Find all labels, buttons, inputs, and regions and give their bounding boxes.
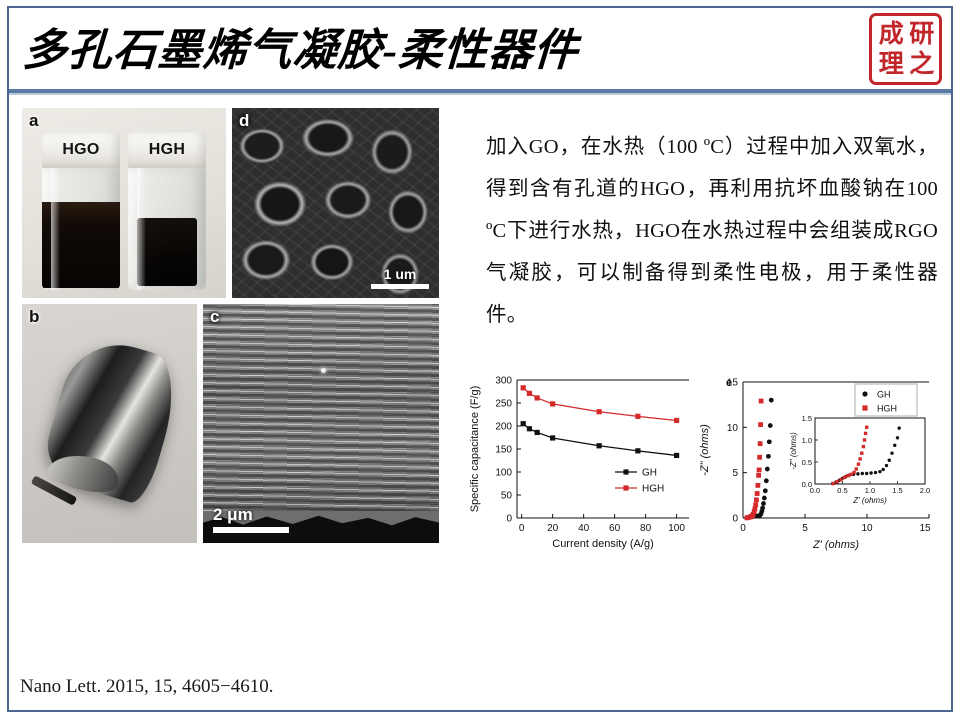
svg-text:Z' (ohms): Z' (ohms) (852, 496, 887, 505)
svg-text:5: 5 (732, 468, 738, 479)
panel-letter-d: d (239, 111, 249, 131)
svg-text:5: 5 (802, 523, 808, 534)
svg-text:-Z" (ohms): -Z" (ohms) (699, 424, 711, 476)
scalebar-1um: 1 um (371, 267, 429, 289)
svg-text:200: 200 (495, 422, 512, 433)
vial-body (128, 166, 206, 290)
svg-text:0: 0 (506, 514, 512, 525)
svg-text:Z' (ohms): Z' (ohms) (812, 539, 859, 551)
vial-photo-panel: a HGO HGH (22, 108, 226, 298)
scalebar-label: 2 μm (213, 506, 253, 524)
vial-hgo: HGO (42, 132, 120, 290)
svg-text:20: 20 (547, 523, 559, 534)
nyquist-chart: 051015051015Z' (ohms)-Z" (ohms)eGHHGH0.0… (697, 368, 943, 564)
specific-capacitance-chart: 050100150200250300020406080100Current de… (465, 368, 697, 564)
svg-text:HGH: HGH (877, 404, 897, 414)
svg-text:100: 100 (495, 468, 512, 479)
svg-text:0.5: 0.5 (802, 458, 812, 467)
figure-image-block: a HGO HGH (22, 108, 439, 543)
svg-text:GH: GH (642, 468, 657, 479)
specific-capacitance-plot: 050100150200250300020406080100Current de… (465, 368, 697, 564)
svg-text:e: e (726, 377, 732, 389)
svg-text:Current density (A/g): Current density (A/g) (552, 538, 653, 550)
page-title: 多孔石墨烯气凝胶-柔性器件 (21, 14, 580, 78)
svg-text:250: 250 (495, 399, 512, 410)
seal-character: 成 (876, 19, 907, 49)
scalebar-2um: 2 μm (213, 506, 289, 533)
svg-text:1.0: 1.0 (802, 436, 812, 445)
vial-label: HGO (62, 141, 99, 159)
flexible-electrode-photo-panel: b (22, 304, 197, 543)
svg-text:80: 80 (640, 523, 652, 534)
svg-text:150: 150 (495, 445, 512, 456)
svg-text:60: 60 (609, 523, 621, 534)
panel-letter-b: b (29, 307, 39, 327)
seal-character: 研 (907, 19, 938, 49)
svg-text:-Z" (ohms): -Z" (ohms) (789, 432, 798, 470)
svg-text:1.5: 1.5 (802, 414, 812, 423)
svg-text:GH: GH (877, 390, 891, 400)
title-divider (9, 89, 951, 93)
svg-text:50: 50 (501, 491, 513, 502)
vial-cap: HGO (42, 132, 120, 168)
svg-text:100: 100 (668, 523, 685, 534)
vial-gloss (137, 166, 146, 290)
slide: 多孔石墨烯气凝胶-柔性器件 成 研 理 之 a HGO (0, 0, 960, 720)
scalebar-label: 1 um (384, 267, 417, 282)
svg-text:0.0: 0.0 (810, 486, 820, 495)
sem-particle (321, 368, 326, 373)
seal-stamp-icon: 成 研 理 之 (869, 13, 942, 85)
vial-cap: HGH (128, 132, 206, 168)
scalebar-line (213, 527, 289, 533)
body-paragraph: 加入GO，在水热（100 ºC）过程中加入双氧水，得到含有孔道的HGO，再利用抗… (486, 126, 938, 336)
nyquist-plot: 051015051015Z' (ohms)-Z" (ohms)eGHHGH0.0… (697, 368, 943, 564)
seal-character: 理 (876, 49, 907, 79)
vial-label: HGH (149, 141, 185, 159)
source-citation: Nano Lett. 2015, 15, 4605−4610. (20, 676, 273, 698)
svg-text:300: 300 (495, 376, 512, 387)
layered-sem-texture (203, 304, 439, 511)
svg-text:0: 0 (519, 523, 525, 534)
charts-strip: 050100150200250300020406080100Current de… (465, 368, 943, 564)
svg-text:10: 10 (861, 523, 873, 534)
svg-text:15: 15 (919, 523, 931, 534)
panel-letter-a: a (29, 111, 38, 131)
vial-gloss (51, 166, 60, 290)
seal-character: 之 (907, 49, 938, 79)
svg-text:Specific capacitance (F/g): Specific capacitance (F/g) (469, 386, 481, 513)
svg-text:1.0: 1.0 (865, 486, 875, 495)
svg-text:1.5: 1.5 (892, 486, 902, 495)
vial-hgh: HGH (128, 132, 206, 290)
vial-body (42, 166, 120, 290)
svg-text:40: 40 (578, 523, 590, 534)
svg-text:10: 10 (727, 423, 739, 434)
layered-sem-panel: c 2 μm (203, 304, 439, 543)
porous-sem-panel: d 1 um (232, 108, 439, 298)
seal-character-grid: 成 研 理 之 (876, 19, 937, 79)
panel-letter-c: c (210, 307, 219, 327)
svg-text:2.0: 2.0 (920, 486, 930, 495)
svg-text:HGH: HGH (642, 484, 664, 495)
title-bar: 多孔石墨烯气凝胶-柔性器件 (9, 8, 951, 90)
svg-text:0: 0 (740, 523, 746, 534)
svg-text:0.5: 0.5 (837, 486, 847, 495)
scalebar-line (371, 284, 429, 289)
svg-text:0: 0 (732, 514, 738, 525)
